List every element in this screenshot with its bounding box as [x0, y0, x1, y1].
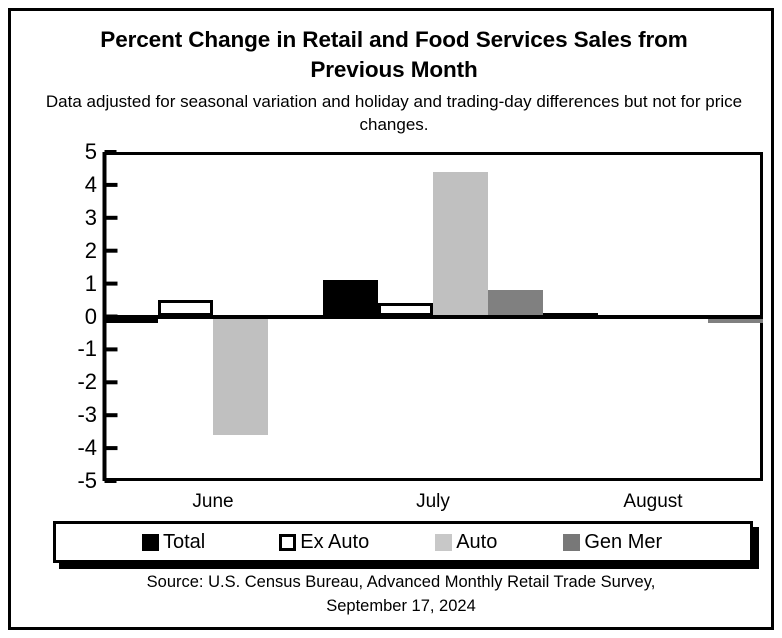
bar-july-auto: [433, 172, 488, 317]
y-axis-tick-label: -1: [41, 338, 97, 360]
chart-legend: TotalEx AutoAutoGen Mer: [53, 521, 753, 563]
y-axis-tick-label: 1: [41, 273, 97, 295]
zero-baseline: [103, 315, 763, 319]
chart-frame: Percent Change in Retail and Food Servic…: [8, 8, 774, 630]
chart-title: Percent Change in Retail and Food Servic…: [51, 25, 737, 85]
legend-label: Auto: [456, 532, 497, 552]
legend-item-total[interactable]: Total: [142, 524, 205, 560]
y-axis-tick-label: -2: [41, 371, 97, 393]
y-axis-tick-label: -3: [41, 404, 97, 426]
legend-label: Ex Auto: [300, 532, 369, 552]
legend-item-ex-auto[interactable]: Ex Auto: [279, 524, 369, 560]
legend-swatch-icon: [563, 534, 580, 551]
legend-swatch-icon: [279, 534, 296, 551]
y-axis-tick-label: 0: [41, 306, 97, 328]
legend-swatch-icon: [142, 534, 159, 551]
plot-wrapper: 543210-1-2-3-4-5 JuneJulyAugust: [95, 143, 767, 485]
legend-swatch-icon: [435, 534, 452, 551]
chart-page: Percent Change in Retail and Food Servic…: [0, 0, 782, 638]
y-axis-tick-label: 2: [41, 240, 97, 262]
source-note-line-1: Source: U.S. Census Bureau, Advanced Mon…: [51, 571, 751, 595]
x-axis-label-june: June: [103, 491, 323, 513]
y-axis-tick-label: 4: [41, 174, 97, 196]
source-note-line-2: September 17, 2024: [51, 595, 751, 619]
legend-item-gen-mer[interactable]: Gen Mer: [563, 524, 662, 560]
bar-july-gen-mer: [488, 290, 543, 316]
bar-july-total: [323, 280, 378, 316]
chart-subtitle: Data adjusted for seasonal variation and…: [25, 91, 763, 137]
y-axis-tick-label: 3: [41, 207, 97, 229]
bar-june-auto: [213, 317, 268, 435]
legend-label: Gen Mer: [584, 532, 662, 552]
x-axis-label-august: August: [543, 491, 763, 513]
plot-area: [95, 143, 767, 485]
source-note: Source: U.S. Census Bureau, Advanced Mon…: [51, 571, 751, 619]
y-axis-tick-label: -4: [41, 437, 97, 459]
legend-label: Total: [163, 532, 205, 552]
y-axis-tick-label: 5: [41, 141, 97, 163]
x-axis-label-july: July: [323, 491, 543, 513]
legend-item-auto[interactable]: Auto: [435, 524, 497, 560]
y-axis-tick-label: -5: [41, 470, 97, 492]
